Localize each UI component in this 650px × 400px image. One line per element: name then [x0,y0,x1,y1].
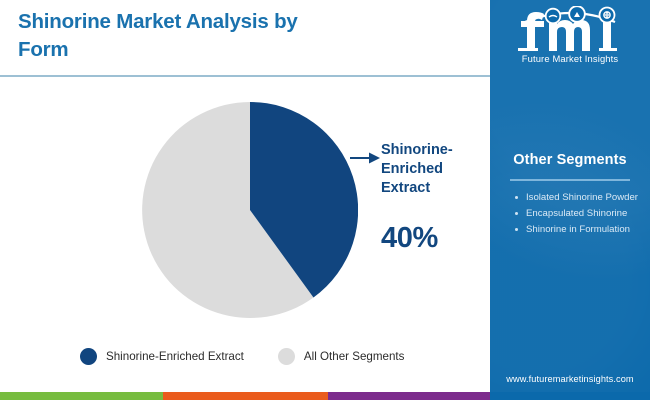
other-segments-list: Isolated Shinorine Powder Encapsulated S… [504,191,650,239]
bar-segment-purple [328,392,490,400]
brand-logo[interactable]: Future Market Insights [490,6,650,64]
callout-value: 40% [381,222,438,255]
list-item: Isolated Shinorine Powder [526,191,650,205]
legend-swatch-navy [80,348,97,365]
list-item: Shinorine in Formulation [526,223,650,237]
list-item: Encapsulated Shinorine [526,207,650,221]
legend-label: All Other Segments [304,350,405,363]
pie-chart-svg [142,102,358,318]
header-divider [0,75,490,77]
callout-label: Shinorine-Enriched Extract [381,141,486,198]
arrow-right-icon [350,148,380,168]
legend-item-shinorine-enriched-extract[interactable]: Shinorine-Enriched Extract [80,348,244,365]
side-panel: Future Market Insights Other Segments Is… [490,0,650,400]
page-title: Shinorine Market Analysis by Form [18,8,348,63]
pie-chart [142,102,358,318]
legend-item-all-other-segments[interactable]: All Other Segments [278,348,405,365]
bar-segment-green [0,392,163,400]
fmi-logo-icon [511,6,629,52]
legend-swatch-grey [278,348,295,365]
chart-legend: Shinorine-Enriched Extract All Other Seg… [80,348,404,365]
website-url[interactable]: www.futuremarketinsights.com [490,374,650,384]
legend-label: Shinorine-Enriched Extract [106,350,244,363]
brand-tagline: Future Market Insights [490,53,650,64]
bar-segment-orange [163,392,328,400]
bottom-color-bar [0,392,650,400]
other-segments-divider [510,179,630,181]
other-segments-title: Other Segments [490,152,650,168]
bar-segment-blue [490,392,650,400]
infographic-canvas: Shinorine Market Analysis by Form Shinor… [0,0,650,400]
